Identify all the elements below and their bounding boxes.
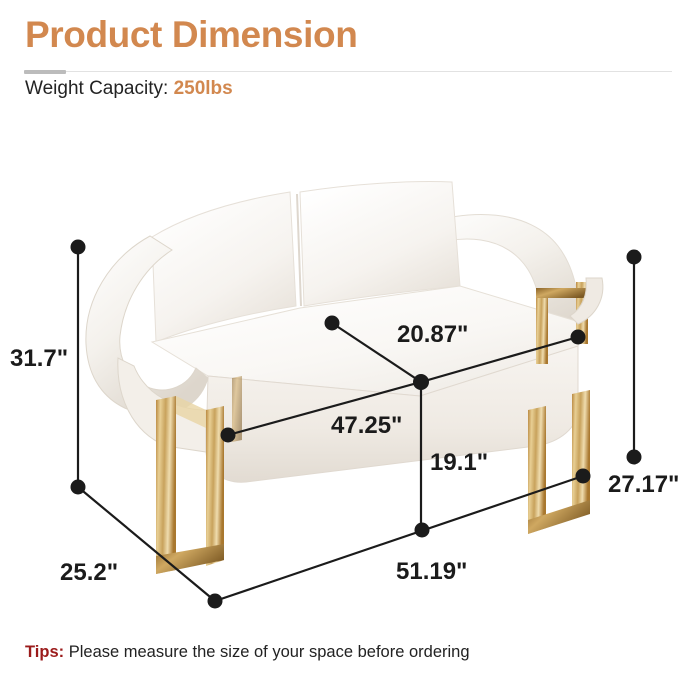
weight-capacity: Weight Capacity: 250lbs: [25, 78, 233, 100]
divider-thin-line: [24, 71, 672, 72]
dot-seat-width-left: [221, 428, 236, 443]
dot-backheight-bottom: [627, 450, 642, 465]
loveseat-illustration: [86, 181, 603, 574]
dot-seat-vertex: [413, 374, 429, 390]
tips-note: Tips: Please measure the size of your sp…: [25, 643, 470, 662]
label-overall-width: 51.19": [396, 558, 467, 585]
sofa-back-cushion-right: [300, 181, 460, 306]
weight-capacity-value: 250lbs: [174, 78, 233, 99]
dot-height-bottom: [71, 480, 86, 495]
dot-depth-front: [208, 594, 223, 609]
dot-height-top: [71, 240, 86, 255]
title-divider: [24, 70, 672, 74]
divider-accent-segment: [24, 70, 66, 74]
label-seat-width: 47.25": [331, 412, 402, 439]
label-overall-height: 31.7": [10, 345, 68, 372]
dimension-diagram: 31.7" 25.2" 51.19" 27.17" 20.87" 47.25" …: [0, 110, 700, 630]
tips-label: Tips:: [25, 643, 64, 661]
label-overall-depth: 25.2": [60, 559, 118, 586]
dot-backheight-top: [627, 250, 642, 265]
label-seat-depth: 20.87": [397, 321, 468, 348]
label-back-height: 27.17": [608, 471, 679, 498]
dot-seat-top-right: [571, 330, 586, 345]
dot-width-right: [576, 469, 591, 484]
weight-capacity-label: Weight Capacity:: [25, 78, 168, 99]
dot-width-mid: [415, 523, 430, 538]
label-seat-height: 19.1": [430, 449, 488, 476]
dot-seat-depth-back: [325, 316, 340, 331]
tips-text: Please measure the size of your space be…: [69, 643, 470, 661]
product-dimension-infographic: Product Dimension Weight Capacity: 250lb…: [0, 0, 700, 700]
page-title: Product Dimension: [25, 14, 357, 56]
